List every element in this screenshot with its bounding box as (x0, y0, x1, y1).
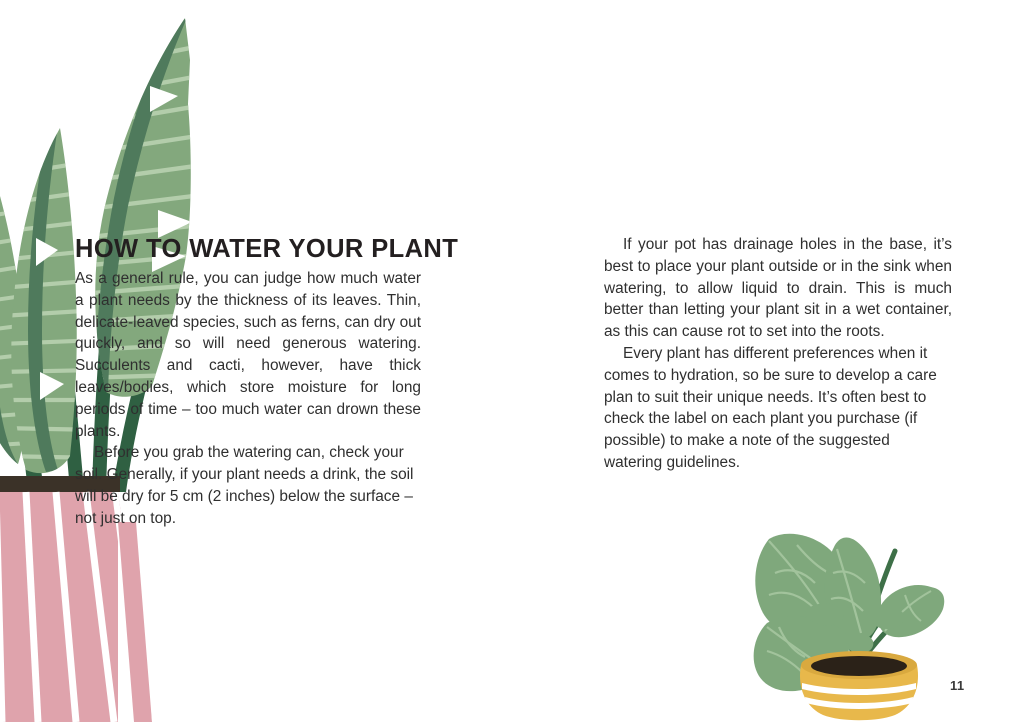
right-leaf-small-right (872, 607, 904, 629)
right-leaf-lower-left (754, 616, 850, 691)
book-page: HOW TO WATER YOUR PLANT As a general rul… (0, 0, 1024, 722)
paragraph: Every plant has different preferences wh… (604, 343, 952, 474)
paragraph: If your pot has drainage holes in the ba… (604, 234, 952, 343)
left-text-column: As a general rule, you can judge how muc… (75, 268, 421, 530)
right-leaf-upper-middle (825, 538, 881, 642)
right-yellow-pot (800, 651, 918, 720)
right-text-column: If your pot has drainage holes in the ba… (604, 234, 952, 474)
right-leaf-upper-right (877, 585, 944, 637)
right-leaf-upper-left (755, 534, 845, 637)
paragraph: Before you grab the watering can, check … (75, 442, 421, 529)
page-number: 11 (950, 678, 980, 693)
page-title: HOW TO WATER YOUR PLANT (75, 235, 475, 263)
right-leaf-small-left (805, 603, 844, 625)
left-leaf-far (0, 120, 50, 480)
right-leaf-small-center (846, 634, 873, 654)
right-plant-illustration (745, 515, 960, 722)
right-plant-stems (771, 543, 931, 665)
paragraph: As a general rule, you can judge how muc… (75, 268, 421, 442)
